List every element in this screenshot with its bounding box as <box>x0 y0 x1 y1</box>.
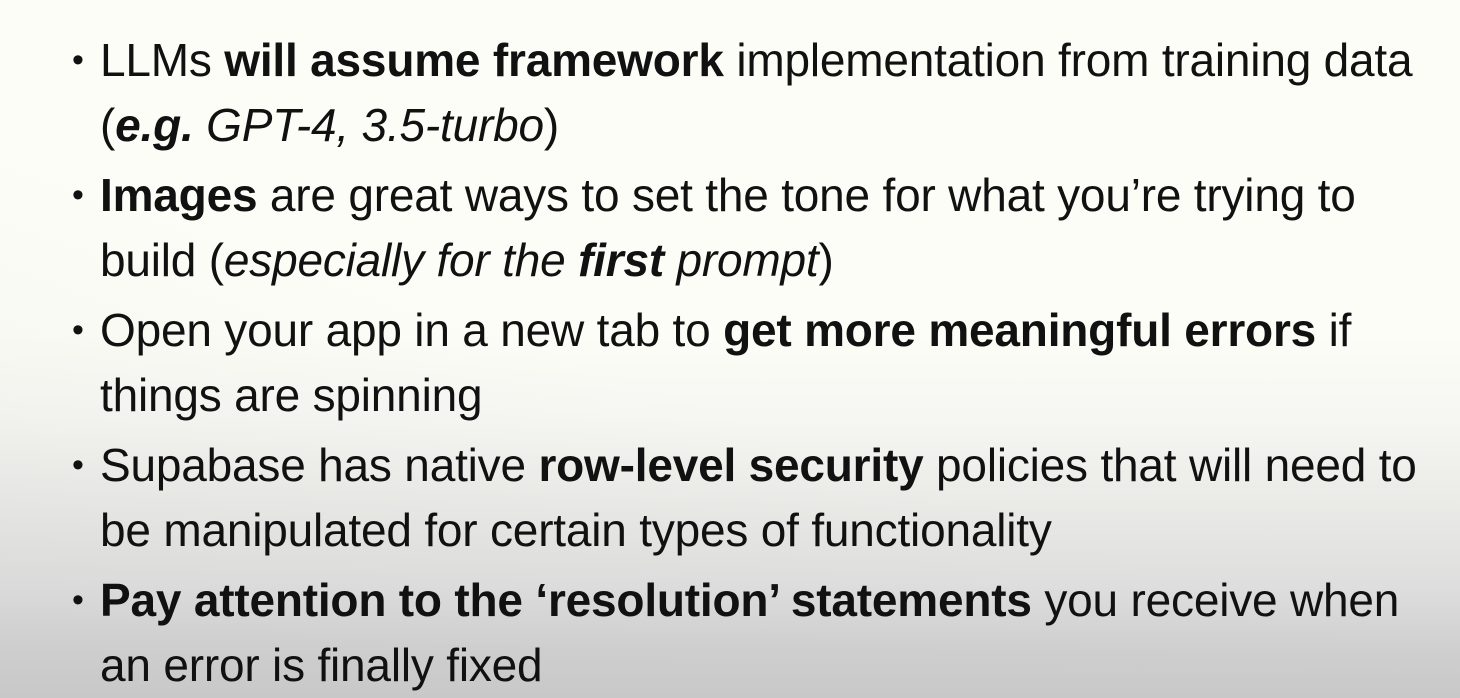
bullet-text-segment: prompt <box>664 234 819 286</box>
bullet-text-segment: e.g. <box>115 99 193 151</box>
bullet-item: •Open your app in a new tab to get more … <box>0 298 1460 428</box>
bullet-text-segment: get more meaningful errors <box>723 304 1316 356</box>
bullet-text-segment: Open your app in a new tab to <box>100 304 723 356</box>
bullet-point-icon: • <box>72 298 86 363</box>
bullet-text: Images are great ways to set the tone fo… <box>100 163 1442 293</box>
bullet-point-icon: • <box>72 28 86 93</box>
bullet-text-segment: first <box>578 234 664 286</box>
bullet-item: •Pay attention to the ‘resolution’ state… <box>0 568 1460 698</box>
bullet-item: •Images are great ways to set the tone f… <box>0 163 1460 293</box>
bullet-item: •Supabase has native row-level security … <box>0 433 1460 563</box>
bullet-point-icon: • <box>72 163 86 228</box>
bullet-text-segment: Supabase has native <box>100 439 538 491</box>
slide-canvas: •LLMs will assume framework implementati… <box>0 0 1460 698</box>
bullet-text: Supabase has native row-level security p… <box>100 433 1442 563</box>
bullet-text-segment: row-level security <box>538 439 923 491</box>
bullet-text-segment: LLMs <box>100 34 224 86</box>
bullet-point-icon: • <box>72 568 86 633</box>
bullet-text-segment: will assume framework <box>224 34 723 86</box>
bullet-text: Open your app in a new tab to get more m… <box>100 298 1442 428</box>
bullet-text-segment: Pay attention to the ‘resolution’ statem… <box>100 574 1032 626</box>
bullet-point-icon: • <box>72 433 86 498</box>
bullet-text-segment: ) <box>819 234 834 286</box>
bullet-text: LLMs will assume framework implementatio… <box>100 28 1442 158</box>
bullet-text-segment: especially for the <box>224 234 578 286</box>
bullet-text-segment: ) <box>544 99 559 151</box>
bullet-text-segment: Images <box>100 169 257 221</box>
bullet-item: •LLMs will assume framework implementati… <box>0 28 1460 158</box>
bullet-list: •LLMs will assume framework implementati… <box>0 0 1460 698</box>
bullet-text: Pay attention to the ‘resolution’ statem… <box>100 568 1442 698</box>
bullet-text-segment: GPT-4, 3.5-turbo <box>194 99 544 151</box>
